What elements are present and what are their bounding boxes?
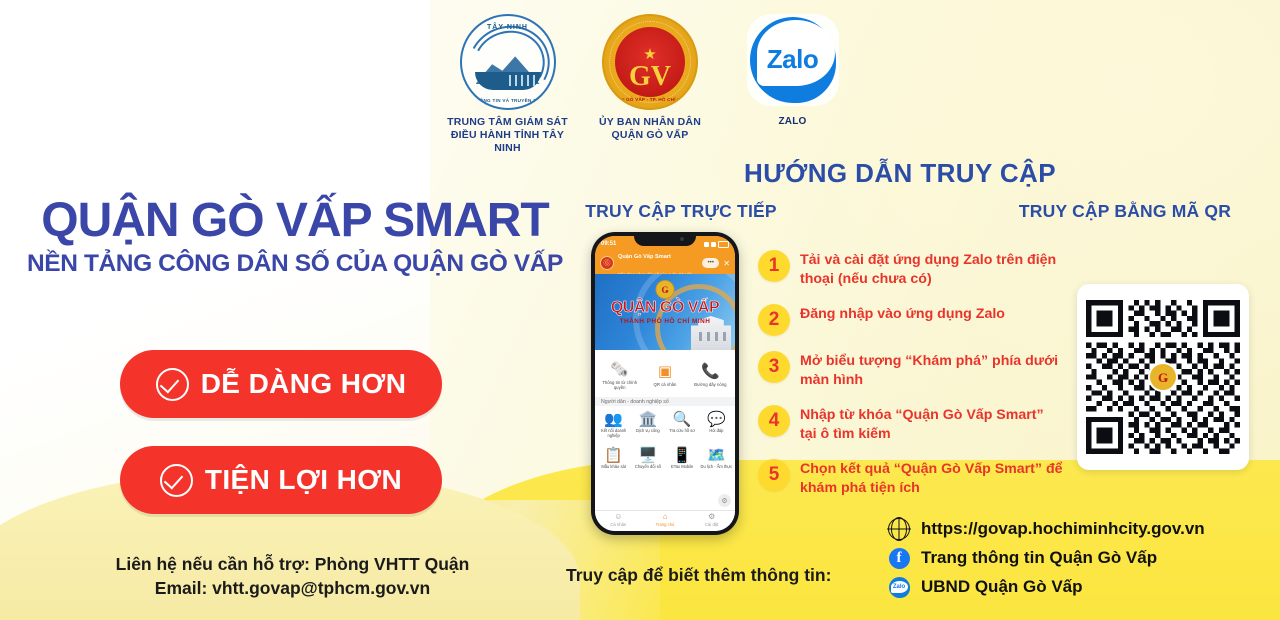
step-text: Đăng nhập vào ứng dụng Zalo <box>800 304 1005 324</box>
go-vap-emblem-text: QUẬN GÒ VẤP - TP. HỒ CHÍ MINH <box>604 97 696 102</box>
phone-notch <box>634 232 696 246</box>
quick-action-label: Thông tin từ chính quyền <box>600 380 640 391</box>
info-govt-icon: 🗞️ <box>600 360 640 378</box>
miniapp-hero-banner: Ǥ QUẬN GÒ VẤP THÀNH PHỐ HỒ CHÍ MINH <box>595 274 735 350</box>
app-tile[interactable]: 🏛️ Dịch vụ công <box>631 409 664 445</box>
logo-go-vap: ★ GV QUẬN GÒ VẤP - TP. HỒ CHÍ MINH ỦY BA… <box>583 14 718 142</box>
nav-item-personal[interactable]: ☺ Cá nhân <box>595 511 642 531</box>
floating-settings-icon[interactable]: ⚙ <box>718 494 731 507</box>
footer-link-facebook[interactable]: f Trang thông tin Quận Gò Vấp <box>888 547 1278 569</box>
tay-ninh-emblem-icon: TÂY NINH SỞ THÔNG TIN VÀ TRUYỀN THÔNG <box>460 14 556 110</box>
status-indicators <box>704 241 729 248</box>
app-tile-label: Hỏi đáp <box>700 429 733 434</box>
logo-row: TÂY NINH SỞ THÔNG TIN VÀ TRUYỀN THÔNG TR… <box>440 14 860 159</box>
quick-actions: 🗞️ Thông tin từ chính quyền ▣ QR cá nhân… <box>595 350 735 397</box>
app-tile[interactable]: 👥 Kết nối doanh nghiệp <box>597 409 630 445</box>
step-text: Nhập từ khóa “Quận Gò Vấp Smart” tại ô t… <box>800 405 1063 444</box>
qr-personal-icon: ▣ <box>645 362 685 380</box>
headline-block: QUẬN GÒ VẤP SMART NỀN TẢNG CÔNG DÂN SỐ C… <box>22 196 568 278</box>
support-contact-line2: Email: vhtt.govap@tphcm.gov.vn <box>20 576 565 600</box>
app-tile-label: Dịch vụ công <box>631 429 664 434</box>
zalo-icon: Zalo <box>888 576 910 598</box>
nav-label: Cài đặt <box>688 522 735 527</box>
hotline-icon: 📞 <box>690 362 730 380</box>
app-tile-label: ETax Mobile <box>666 465 699 470</box>
app-tile[interactable]: 🗺️ Du lịch - Ẩm thực <box>700 445 733 481</box>
qa-icon: 💬 <box>700 409 733 428</box>
support-contact: Liên hệ nếu cần hỗ trợ: Phòng VHTT Quận … <box>20 552 565 600</box>
tay-ninh-emblem-title: TÂY NINH <box>462 24 554 31</box>
miniapp-header: Ⓖ Quận Gò Vấp Smart Nền tảng công dân số… <box>595 252 735 274</box>
cta-button-easier[interactable]: DỄ DÀNG HƠN <box>120 350 442 418</box>
app-tile[interactable]: 📋 Mẫu khảo sát <box>597 445 630 481</box>
nav-item-home[interactable]: ⌂ Trang chủ <box>642 511 689 531</box>
miniapp-more-button[interactable]: ••• <box>702 258 719 268</box>
support-contact-line1: Liên hệ nếu cần hỗ trợ: Phòng VHTT Quận <box>20 552 565 576</box>
tay-ninh-emblem-sub: SỞ THÔNG TIN VÀ TRUYỀN THÔNG <box>462 98 554 103</box>
section-qr-access: TRUY CẬP BẰNG MÃ QR <box>1000 201 1250 222</box>
logo-zalo-line1: ZALO <box>778 116 806 128</box>
app-tile-label: Kết nối doanh nghiệp <box>597 429 630 439</box>
miniapp-emblem-icon: Ⓖ <box>600 256 614 270</box>
nav-label: Cá nhân <box>595 522 642 527</box>
footer-links: https://govap.hochiminhcity.gov.vn f Tra… <box>888 518 1278 605</box>
qr-code-image: Ǥ <box>1086 293 1240 461</box>
home-icon: ⌂ <box>642 513 689 521</box>
step-item: 1 Tải và cài đặt ứng dụng Zalo trên điện… <box>758 250 1063 289</box>
miniapp-bottom-nav: ☺ Cá nhân ⌂ Trang chủ ⚙ Cài đặt <box>595 510 735 531</box>
more-info-label: Truy cập để biết thêm thông tin: <box>566 565 831 586</box>
nav-item-settings[interactable]: ⚙ Cài đặt <box>688 511 735 531</box>
footer-link-text: https://govap.hochiminhcity.gov.vn <box>921 519 1205 539</box>
footer-link-website[interactable]: https://govap.hochiminhcity.gov.vn <box>888 518 1278 540</box>
step-text: Tải và cài đặt ứng dụng Zalo trên điện t… <box>800 250 1063 289</box>
close-icon[interactable]: ✕ <box>723 259 730 268</box>
logo-zalo: Zalo ZALO <box>725 14 860 128</box>
step-item: 3 Mở biểu tượng “Khám phá” phía dưới màn… <box>758 351 1063 390</box>
step-item: 4 Nhập từ khóa “Quận Gò Vấp Smart” tại ô… <box>758 405 1063 444</box>
public-service-icon: 🏛️ <box>631 409 664 428</box>
globe-icon <box>888 518 910 540</box>
qr-code-card[interactable]: Ǥ <box>1077 284 1249 470</box>
tourism-food-icon: 🗺️ <box>700 445 733 464</box>
poster-canvas: TÂY NINH SỞ THÔNG TIN VÀ TRUYỀN THÔNG TR… <box>0 0 1280 620</box>
step-number-badge: 1 <box>758 250 790 282</box>
survey-icon: 📋 <box>597 445 630 464</box>
app-tile[interactable]: 💬 Hỏi đáp <box>700 409 733 445</box>
page-subtitle: NỀN TẢNG CÔNG DÂN SỐ CỦA QUẬN GÒ VẤP <box>22 250 568 278</box>
quick-action-item[interactable]: 🗞️ Thông tin từ chính quyền <box>600 360 640 391</box>
gear-icon: ⚙ <box>688 513 735 521</box>
step-item: 2 Đăng nhập vào ứng dụng Zalo <box>758 304 1063 336</box>
step-number-badge: 2 <box>758 304 790 336</box>
zalo-logo-icon: Zalo <box>747 14 839 106</box>
steps-list: 1 Tải và cài đặt ứng dụng Zalo trên điện… <box>758 250 1063 513</box>
hero-title: QUẬN GÒ VẤP <box>595 299 735 317</box>
step-number-badge: 3 <box>758 351 790 383</box>
cta-label-convenient: TIỆN LỢI HƠN <box>205 464 402 496</box>
quick-action-label: QR cá nhân <box>645 382 685 387</box>
miniapp-title: Quận Gò Vấp Smart <box>618 254 671 260</box>
go-vap-emblem-icon: ★ GV QUẬN GÒ VẤP - TP. HỒ CHÍ MINH <box>602 14 698 110</box>
logo-go-vap-line1: ỦY BAN NHÂN DÂN <box>599 116 701 129</box>
logo-go-vap-line2: QUẬN GÒ VẤP <box>599 129 701 142</box>
cta-button-convenient[interactable]: TIỆN LỢI HƠN <box>120 446 442 514</box>
wifi-icon <box>711 242 716 247</box>
check-circle-icon <box>156 368 189 401</box>
phone-mockup: 09:51 Ⓖ Quận Gò Vấp Smart Nền tảng công … <box>591 232 739 535</box>
section-direct-access: TRUY CẬP TRỰC TIẾP <box>566 201 796 222</box>
app-tile-label: Chuyển đổi số <box>631 465 664 470</box>
step-text: Mở biểu tượng “Khám phá” phía dưới màn h… <box>800 351 1063 390</box>
logo-tay-ninh-line1: TRUNG TÂM GIÁM SÁT <box>440 116 575 129</box>
step-number-badge: 5 <box>758 459 790 491</box>
footer-link-text: Trang thông tin Quận Gò Vấp <box>921 548 1157 568</box>
logo-tay-ninh-line2: ĐIỀU HÀNH TỈNH TÂY NINH <box>440 129 575 155</box>
app-tile-label: Mẫu khảo sát <box>597 465 630 470</box>
zalo-wordmark: Zalo <box>747 44 839 75</box>
app-tile-label: Tra cứu hồ sơ <box>666 429 699 434</box>
logo-tay-ninh: TÂY NINH SỞ THÔNG TIN VÀ TRUYỀN THÔNG TR… <box>440 14 575 154</box>
etax-mobile-icon: 📱 <box>666 445 699 464</box>
hero-emblem-icon: Ǥ <box>656 280 675 299</box>
qr-center-emblem-icon: Ǥ <box>1148 362 1178 392</box>
app-tile[interactable]: 📱 ETax Mobile <box>666 445 699 481</box>
quick-action-item[interactable]: 📞 Đường dây nóng <box>690 362 730 387</box>
go-vap-monogram: GV <box>615 63 685 91</box>
miniapp-section-header: Người dân - doanh nghiệp số <box>595 397 735 406</box>
person-icon: ☺ <box>595 513 642 521</box>
cta-label-easier: DỄ DÀNG HƠN <box>201 368 407 400</box>
nav-label: Trang chủ <box>642 522 689 527</box>
footer-link-zalo[interactable]: Zalo UBND Quận Gò Vấp <box>888 576 1278 598</box>
app-tile-label: Du lịch - Ẩm thực <box>700 465 733 470</box>
quick-action-label: Đường dây nóng <box>690 382 730 387</box>
step-number-badge: 4 <box>758 405 790 437</box>
app-tile[interactable]: 🔍 Tra cứu hồ sơ <box>666 409 699 445</box>
battery-icon <box>718 241 729 248</box>
lookup-dossier-icon: 🔍 <box>666 409 699 428</box>
digital-transform-icon: 🖥️ <box>631 445 664 464</box>
footer-link-text: UBND Quận Gò Vấp <box>921 577 1083 597</box>
page-title: QUẬN GÒ VẤP SMART <box>22 196 568 246</box>
signal-icon <box>704 242 709 247</box>
business-connect-icon: 👥 <box>597 409 630 428</box>
step-text: Chọn kết quả “Quận Gò Vấp Smart” để khám… <box>800 459 1063 498</box>
app-tile[interactable]: 🖥️ Chuyển đổi số <box>631 445 664 481</box>
hero-subtitle: THÀNH PHỐ HỒ CHÍ MINH <box>595 318 735 325</box>
phone-screen: 09:51 Ⓖ Quận Gò Vấp Smart Nền tảng công … <box>595 236 735 531</box>
status-time: 09:51 <box>601 241 616 247</box>
quick-action-item[interactable]: ▣ QR cá nhân <box>645 362 685 387</box>
guide-title: HƯỚNG DẪN TRUY CẬP <box>690 158 1110 189</box>
check-circle-icon <box>160 464 193 497</box>
facebook-icon: f <box>888 547 910 569</box>
step-item: 5 Chọn kết quả “Quận Gò Vấp Smart” để kh… <box>758 459 1063 498</box>
miniapp-app-grid: 👥 Kết nối doanh nghiệp 🏛️ Dịch vụ công 🔍… <box>595 406 735 510</box>
